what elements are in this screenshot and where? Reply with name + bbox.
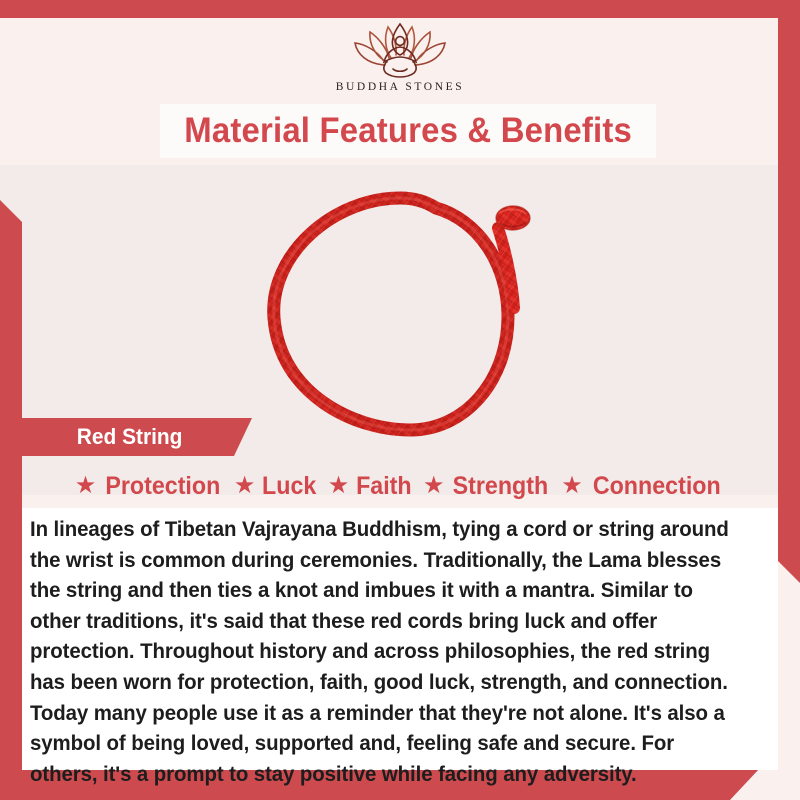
feature-label: Connection bbox=[593, 472, 721, 501]
page-title-band: Material Features & Benefits bbox=[160, 104, 656, 158]
star-icon: ★ bbox=[328, 474, 350, 498]
feature-list: ★ Protection ★ Luck ★ Faith ★ Strength ★… bbox=[22, 466, 778, 506]
feature-item-luck: ★ Luck bbox=[234, 472, 319, 501]
feature-item-strength: ★ Strength bbox=[423, 472, 552, 501]
feature-label: Strength bbox=[453, 472, 549, 501]
top-accent-band bbox=[0, 0, 800, 18]
lotus-meditation-icon bbox=[345, 18, 455, 80]
feature-label: Faith bbox=[356, 472, 412, 501]
product-name-ribbon: Red String bbox=[22, 418, 252, 456]
feature-item-connection: ★ Connection bbox=[561, 472, 725, 501]
infographic-page: BUDDHA STONES Material Features & Benefi… bbox=[0, 0, 800, 800]
feature-item-faith: ★ Faith bbox=[328, 472, 414, 501]
description-paragraph: In lineages of Tibetan Vajrayana Buddhis… bbox=[30, 514, 735, 789]
product-image-red-string-bracelet bbox=[250, 168, 570, 470]
product-name-label: Red String bbox=[77, 424, 183, 450]
feature-label: Protection bbox=[106, 472, 221, 501]
star-icon: ★ bbox=[561, 474, 583, 498]
star-icon: ★ bbox=[75, 474, 97, 498]
brand-logo: BUDDHA STONES bbox=[0, 18, 800, 102]
page-title: Material Features & Benefits bbox=[184, 111, 632, 151]
feature-label: Luck bbox=[262, 472, 316, 501]
star-icon: ★ bbox=[234, 474, 256, 498]
feature-item-protection: ★ Protection bbox=[75, 472, 225, 501]
star-icon: ★ bbox=[423, 474, 445, 498]
description-panel: In lineages of Tibetan Vajrayana Buddhis… bbox=[22, 508, 778, 770]
brand-name: BUDDHA STONES bbox=[336, 81, 464, 93]
left-accent-strip bbox=[0, 200, 22, 800]
